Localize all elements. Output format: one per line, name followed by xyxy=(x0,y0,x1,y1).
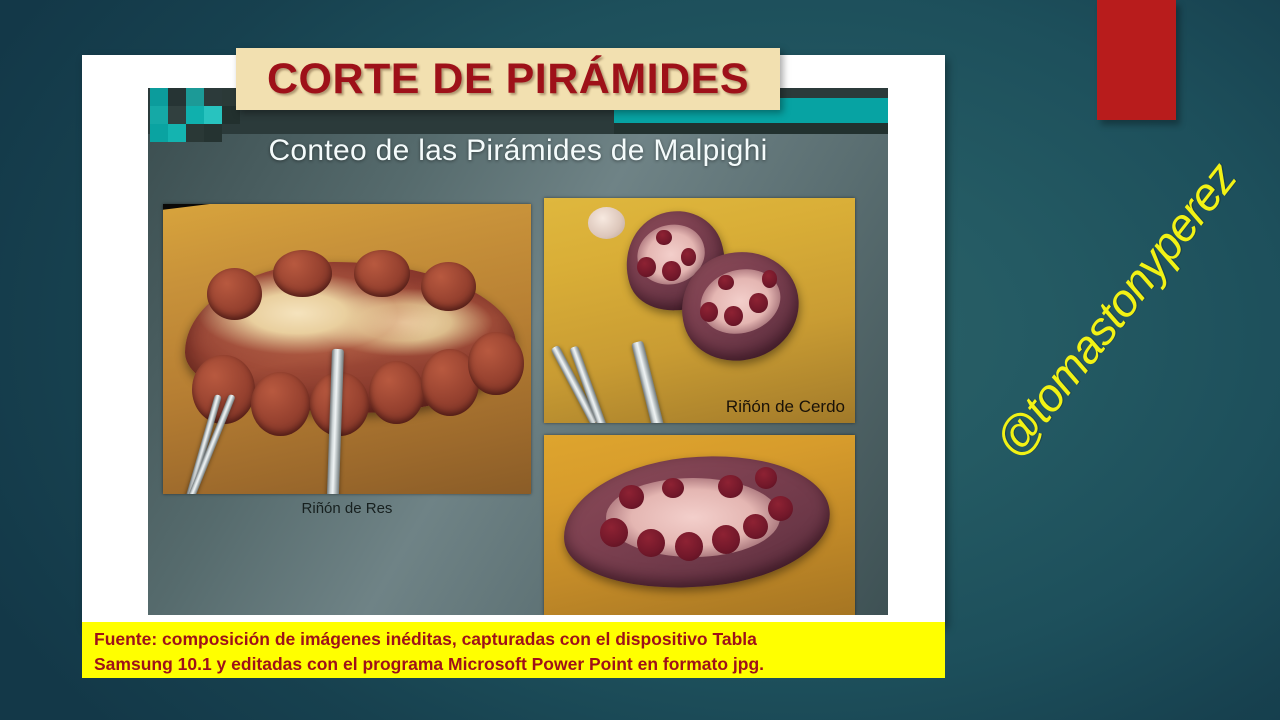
watermark: @tomastonyperez xyxy=(965,120,1265,500)
source-caption: Fuente: composición de imágenes inéditas… xyxy=(82,622,945,678)
title-banner: CORTE DE PIRÁMIDES xyxy=(236,48,780,110)
pig-kidneys-caption: Riñón de Cerdo xyxy=(726,397,845,417)
source-caption-line-1: Fuente: composición de imágenes inéditas… xyxy=(94,627,933,652)
pig-kidney-closeup-photo xyxy=(544,435,855,615)
page-title: CORTE DE PIRÁMIDES xyxy=(267,55,749,104)
slide-canvas: @tomastonyperez xyxy=(0,0,1280,720)
pig-kidneys-photo: Riñón de Cerdo xyxy=(544,198,855,423)
beef-kidney-caption: Riñón de Res xyxy=(163,500,531,517)
source-caption-line-2: Samsung 10.1 y editadas con el programa … xyxy=(94,652,933,677)
beef-kidney-photo xyxy=(163,204,531,494)
embedded-slide-heading: Conteo de las Pirámides de Malpighi xyxy=(148,134,888,168)
embedded-slide: Conteo de las Pirámides de Malpighi xyxy=(148,88,888,615)
watermark-handle: @tomastonyperez xyxy=(983,152,1247,468)
red-accent-rectangle xyxy=(1097,0,1176,120)
teal-accent-bar-shadow xyxy=(614,123,888,134)
photo-frame: Conteo de las Pirámides de Malpighi xyxy=(82,55,945,625)
